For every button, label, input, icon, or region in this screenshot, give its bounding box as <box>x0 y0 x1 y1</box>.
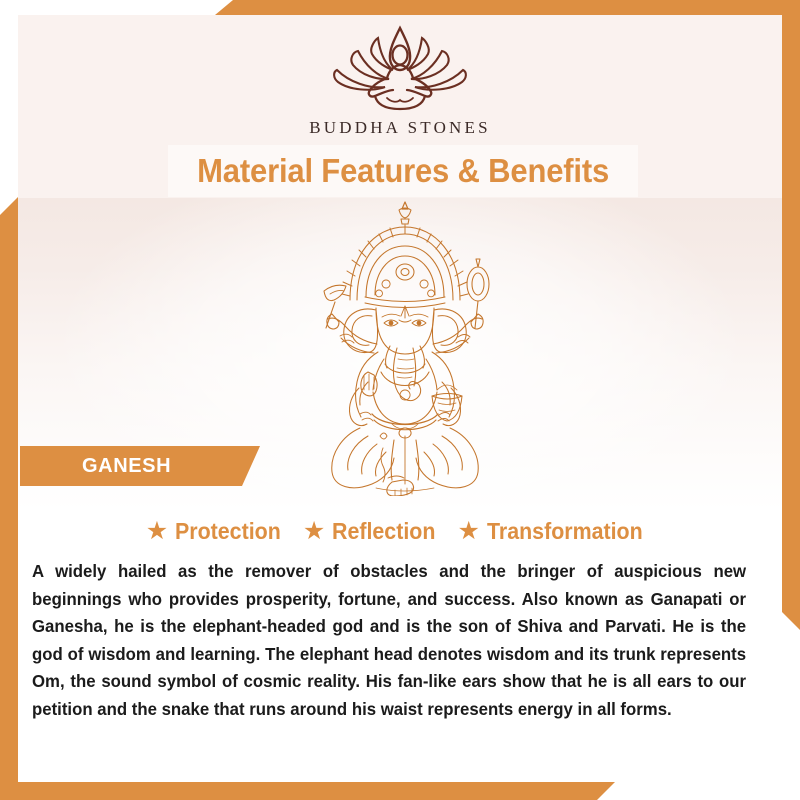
feature-item-protection: ★ Protection <box>146 518 289 545</box>
brand-logo: BUDDHA STONES <box>0 22 800 138</box>
ganesh-illustration <box>280 196 530 496</box>
page-title-band: Material Features & Benefits <box>168 145 638 197</box>
lotus-meditation-figure-icon <box>325 22 475 114</box>
star-icon: ★ <box>146 519 168 544</box>
star-icon: ★ <box>457 519 479 544</box>
page-title: Material Features & Benefits <box>197 152 609 190</box>
ganesh-ribbon: GANESH <box>20 446 260 486</box>
brand-wordmark: BUDDHA STONES <box>0 118 800 138</box>
description-block: A widely hailed as the remover of obstac… <box>32 558 746 723</box>
frame-band-bottom-icon <box>0 782 615 800</box>
feature-label: Reflection <box>332 518 435 545</box>
feature-item-reflection: ★ Reflection <box>303 518 444 545</box>
poster-canvas: BUDDHA STONES Material Features & Benefi… <box>0 0 800 800</box>
feature-item-transformation: ★ Transformation <box>457 518 654 545</box>
features-row: ★ Protection ★ Reflection ★ Transformati… <box>18 518 782 545</box>
ribbon-label: GANESH <box>20 455 171 478</box>
ganesh-line-art-icon <box>280 196 530 496</box>
frame-band-top-icon <box>215 0 800 15</box>
feature-label: Transformation <box>487 518 643 545</box>
frame-band-left-icon <box>0 197 18 800</box>
star-icon: ★ <box>303 519 325 544</box>
description-paragraph: A widely hailed as the remover of obstac… <box>32 558 746 723</box>
feature-label: Protection <box>175 518 281 545</box>
